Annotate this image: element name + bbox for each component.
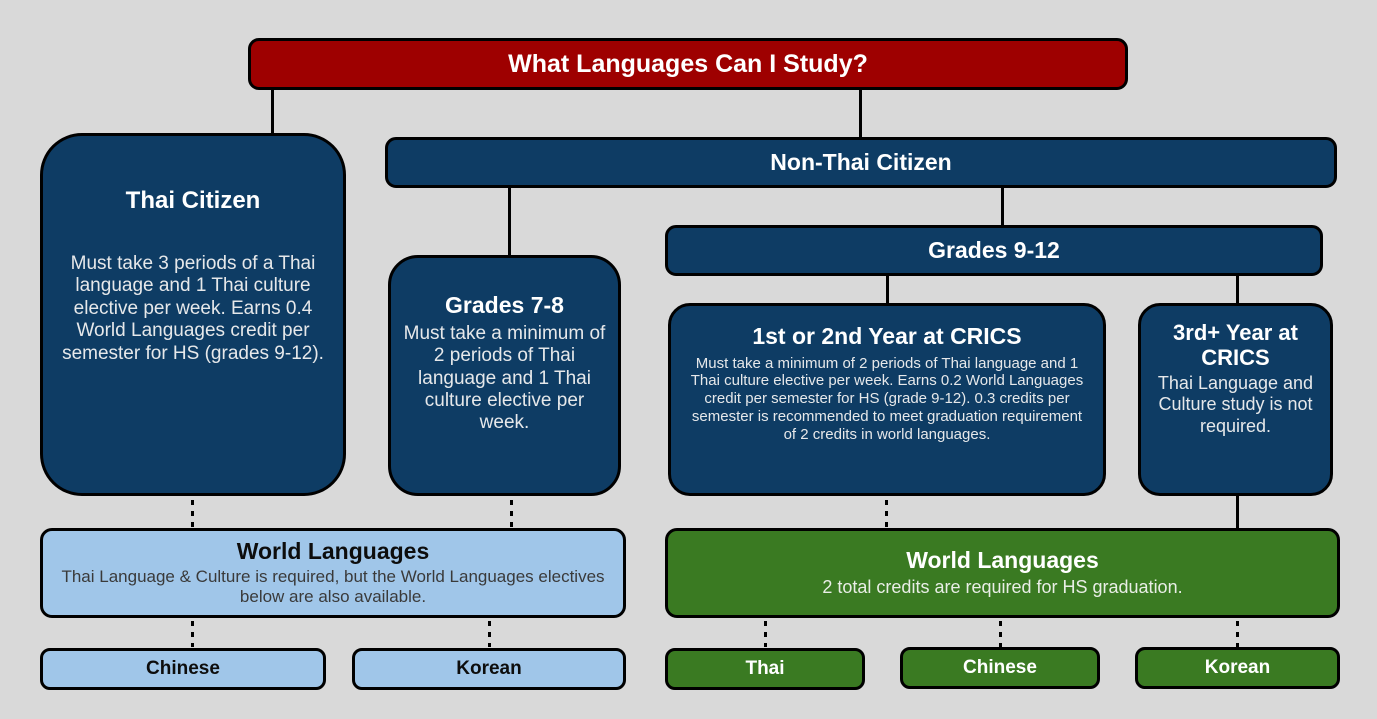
connector-wl-green-to-chinese xyxy=(999,621,1002,647)
leaf-green-korean[interactable]: Korean xyxy=(1135,647,1340,689)
grades-78-title: Grades 7-8 xyxy=(445,293,564,319)
node-third-plus-year-crics[interactable]: 3rd+ Year at CRICS Thai Language and Cul… xyxy=(1138,303,1333,496)
connector-crics-12-to-wl-green xyxy=(885,500,888,527)
leaf-blue-chinese[interactable]: Chinese xyxy=(40,648,326,690)
crics-12-title: 1st or 2nd Year at CRICS xyxy=(752,324,1021,350)
connector-grades-912-to-crics-12 xyxy=(886,274,889,306)
grades-912-title: Grades 9-12 xyxy=(928,238,1060,264)
node-world-languages-thai-track[interactable]: World Languages Thai Language & Culture … xyxy=(40,528,626,618)
node-first-or-second-year-crics[interactable]: 1st or 2nd Year at CRICS Must take a min… xyxy=(668,303,1106,496)
flowchart-canvas: What Languages Can I Study? Thai Citizen… xyxy=(0,0,1377,719)
leaf-blue-korean[interactable]: Korean xyxy=(352,648,626,690)
thai-citizen-body: Must take 3 periods of a Thai language a… xyxy=(53,253,333,365)
connector-crics-3-to-wl-green xyxy=(1236,494,1239,530)
connector-wl-green-to-thai xyxy=(764,621,767,647)
leaf-green-thai[interactable]: Thai xyxy=(665,648,865,690)
node-world-languages-non-thai-track[interactable]: World Languages 2 total credits are requ… xyxy=(665,528,1340,618)
node-grades-7-8[interactable]: Grades 7-8 Must take a minimum of 2 peri… xyxy=(388,255,621,496)
leaf-green-chinese[interactable]: Chinese xyxy=(900,647,1100,689)
wl-blue-body: Thai Language & Culture is required, but… xyxy=(53,567,613,607)
node-thai-citizen[interactable]: Thai Citizen Must take 3 periods of a Th… xyxy=(40,133,346,496)
crics-12-body: Must take a minimum of 2 periods of Thai… xyxy=(685,355,1089,443)
connector-grades-912-to-crics-3 xyxy=(1236,274,1239,306)
connector-root-to-non-thai xyxy=(859,88,862,140)
thai-citizen-title: Thai Citizen xyxy=(126,188,261,215)
node-root-question[interactable]: What Languages Can I Study? xyxy=(248,38,1128,90)
non-thai-title: Non-Thai Citizen xyxy=(770,150,951,176)
leaf-green-chinese-label: Chinese xyxy=(963,657,1037,678)
root-title: What Languages Can I Study? xyxy=(508,50,868,78)
wl-green-body: 2 total credits are required for HS grad… xyxy=(822,577,1182,598)
connector-wl-green-to-korean xyxy=(1236,621,1239,647)
leaf-blue-chinese-label: Chinese xyxy=(146,658,220,679)
crics-3-title: 3rd+ Year at CRICS xyxy=(1151,321,1320,370)
connector-grades-78-to-wl-blue xyxy=(510,500,513,527)
crics-3-body: Thai Language and Culture study is not r… xyxy=(1151,373,1320,437)
connector-non-thai-to-grades-912 xyxy=(1001,186,1004,228)
connector-wl-blue-to-korean xyxy=(488,621,491,647)
connector-thai-citizen-to-wl-blue xyxy=(191,500,194,527)
leaf-blue-korean-label: Korean xyxy=(456,658,521,679)
connector-non-thai-to-grades-78 xyxy=(508,186,511,258)
wl-green-title: World Languages xyxy=(906,548,1099,574)
node-grades-9-12[interactable]: Grades 9-12 xyxy=(665,225,1323,276)
connector-root-to-thai-citizen xyxy=(271,88,274,136)
leaf-green-korean-label: Korean xyxy=(1205,657,1270,678)
node-non-thai-citizen[interactable]: Non-Thai Citizen xyxy=(385,137,1337,188)
leaf-green-thai-label: Thai xyxy=(745,658,784,679)
connector-wl-blue-to-chinese xyxy=(191,621,194,647)
wl-blue-title: World Languages xyxy=(237,539,430,565)
grades-78-body: Must take a minimum of 2 periods of Thai… xyxy=(401,323,608,435)
